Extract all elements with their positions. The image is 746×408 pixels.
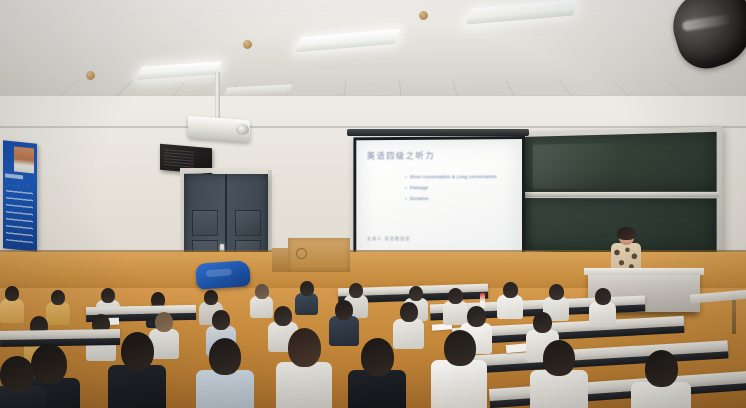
- student-head: [503, 282, 518, 298]
- student-head: [349, 283, 363, 298]
- student: [431, 330, 487, 408]
- slide-content: 英语四级之听力 Short conversation & Long conver…: [367, 149, 514, 257]
- smoke-detector-icon: [86, 71, 95, 80]
- slide-footer: 主讲人 英语教研室: [367, 236, 411, 242]
- student: [497, 282, 523, 316]
- student: [295, 281, 318, 312]
- student-head: [448, 288, 463, 304]
- student: [348, 338, 406, 408]
- student-head: [204, 290, 218, 305]
- student: [276, 328, 332, 408]
- student-head: [5, 286, 19, 301]
- poster-heading: [5, 173, 23, 179]
- student-head: [274, 306, 292, 326]
- student-head: [549, 284, 564, 300]
- door-panel: [192, 210, 218, 236]
- wall-seam: [0, 126, 746, 128]
- chalkboard-upper-panel: [525, 132, 717, 192]
- student-head: [595, 288, 611, 305]
- student-head: [300, 281, 314, 296]
- student-head: [0, 356, 34, 392]
- classroom-photo: 英语四级之听力 Short conversation & Long conver…: [0, 0, 746, 408]
- projection-screen-surface: 英语四级之听力 Short conversation & Long conver…: [356, 139, 522, 263]
- student-head: [409, 286, 423, 301]
- slide-bullet: Passage: [405, 185, 514, 190]
- student-head: [288, 328, 321, 367]
- student-head: [361, 338, 394, 376]
- student-torso: [276, 362, 332, 408]
- smoke-detector-icon: [243, 40, 252, 49]
- student-torso: [431, 360, 487, 408]
- student-head: [121, 332, 154, 370]
- student: [108, 332, 166, 408]
- student-head: [51, 290, 65, 305]
- poster-text-lines: [6, 185, 33, 244]
- student: [0, 286, 24, 319]
- student: [196, 338, 254, 408]
- side-desk-leg: [732, 300, 736, 334]
- student: [589, 288, 616, 324]
- slide-bullet: Short conversation & Long conversation: [405, 174, 514, 179]
- instructor-hair: [617, 227, 636, 240]
- student: [631, 350, 691, 408]
- poster-portrait: [14, 146, 34, 173]
- student-head: [400, 302, 418, 322]
- student-head: [335, 300, 353, 320]
- student-head: [255, 284, 269, 299]
- desk-row: [0, 329, 120, 340]
- cabinet-ring-object: [296, 248, 307, 259]
- student-torso: [196, 370, 254, 408]
- student: [329, 300, 359, 342]
- student: [0, 356, 46, 408]
- projection-screen: 英语四级之听力 Short conversation & Long conver…: [353, 136, 525, 266]
- student-head: [533, 312, 552, 333]
- student-torso: [0, 299, 24, 323]
- screen-roller-case: [347, 129, 529, 136]
- student-torso: [497, 295, 523, 319]
- chalk-rail: [523, 192, 719, 197]
- student-head: [212, 310, 230, 330]
- student: [530, 340, 588, 408]
- blue-information-poster: [3, 140, 37, 252]
- slide-bullet: Dictation: [405, 196, 514, 201]
- student-head: [467, 306, 486, 327]
- student-head: [155, 312, 173, 332]
- projector-mount-pole: [215, 72, 220, 124]
- student-head: [543, 340, 575, 376]
- chalkboard-glare: [533, 142, 658, 189]
- slide-bullet-list: Short conversation & Long conversation P…: [367, 174, 514, 201]
- student-head: [209, 338, 241, 375]
- student-head: [645, 350, 678, 387]
- door-frame-top: [180, 168, 272, 173]
- blue-backpack: [195, 260, 251, 290]
- slide-title: 英语四级之听力: [367, 149, 514, 162]
- student-head: [101, 288, 115, 303]
- student-torso: [295, 293, 318, 315]
- student-torso: [589, 302, 616, 327]
- door-panel: [235, 210, 261, 236]
- smoke-detector-icon: [419, 11, 428, 20]
- student-torso: [108, 365, 166, 408]
- projector-lens: [236, 124, 249, 135]
- lectern-surface: [584, 268, 704, 275]
- student-head: [444, 330, 476, 366]
